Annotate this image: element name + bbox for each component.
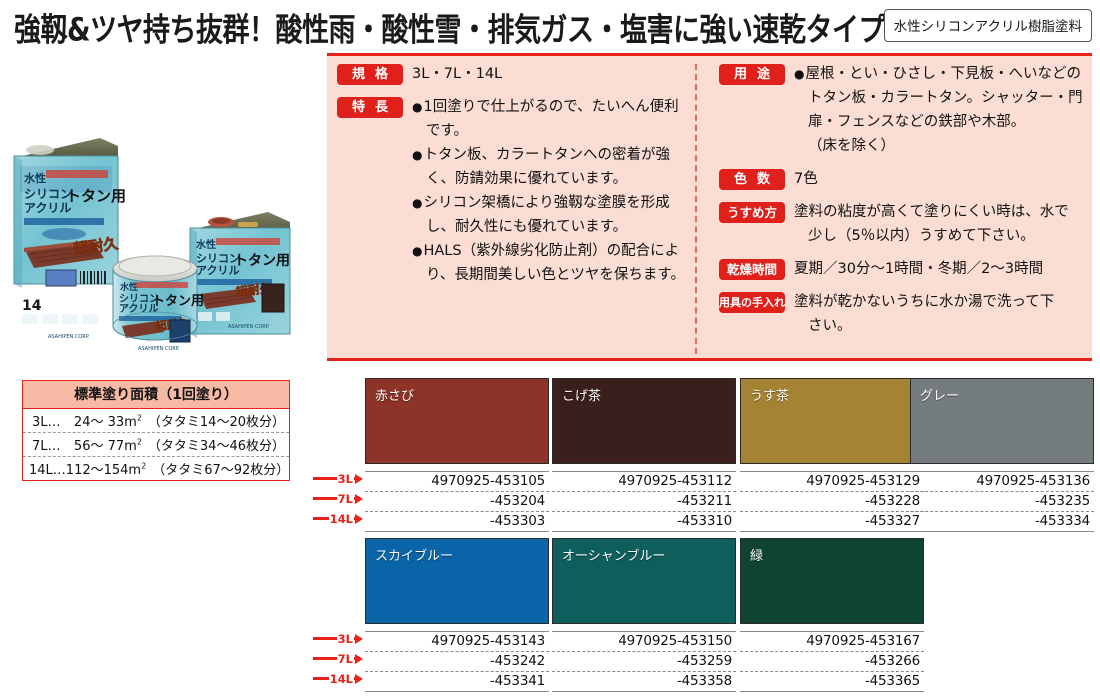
color-swatch-cell[interactable]: オーシャンブルー4970925-453150-453259-453358 bbox=[552, 538, 736, 692]
size-tag-group: 3L7L14L bbox=[313, 631, 363, 691]
swatch-row-1: 赤さび4970925-453105-453204-4533033L7L14Lこげ… bbox=[330, 378, 1090, 538]
color-swatch-block: 緑 bbox=[740, 538, 924, 624]
svg-text:シリコン: シリコン bbox=[24, 187, 72, 201]
spec-text-line: 塗料が乾かないうちに水か湯で洗って下 bbox=[794, 290, 1087, 314]
color-swatch-block: グレー bbox=[910, 378, 1094, 464]
product-code-list: 4970925-453105-453204-453303 bbox=[365, 471, 549, 532]
spec-text-line: さい。 bbox=[794, 314, 1087, 338]
size-tag: 14L bbox=[313, 511, 363, 526]
coverage-size: 7L… bbox=[29, 439, 61, 454]
spec-text-line: 1回塗りで仕上がるので、たいへん便利 bbox=[412, 95, 689, 119]
product-code: -453211 bbox=[552, 492, 736, 512]
coverage-area-table: 標準塗り面積（1回塗り） 3L…24〜 33m2（タタミ14〜20枚分）7L…5… bbox=[22, 380, 290, 481]
spec-text-line: トタン板、カラートタンへの密着が強 bbox=[412, 143, 689, 167]
product-code: -453259 bbox=[552, 652, 736, 672]
size-tag: 3L bbox=[313, 471, 363, 486]
svg-text:トタン用: トタン用 bbox=[152, 294, 204, 309]
spec-label: 特長 bbox=[337, 97, 403, 118]
svg-text:ASAHIPEN CORP.: ASAHIPEN CORP. bbox=[138, 346, 180, 352]
spec-text-line: 扉・フェンスなどの鉄部や木部。 bbox=[794, 110, 1087, 134]
spec-label: 用具の手入れ bbox=[719, 292, 785, 313]
color-swatch-name: こげ茶 bbox=[562, 385, 601, 404]
svg-text:アクリル: アクリル bbox=[196, 264, 239, 277]
product-code: -453204 bbox=[365, 492, 549, 512]
svg-text:水性: 水性 bbox=[195, 238, 216, 251]
spec-row: 用途屋根・とい・ひさし・下見板・へいなどのトタン板・カラートタン。シャッター・門… bbox=[719, 62, 1087, 158]
color-swatch-block: スカイブルー bbox=[365, 538, 549, 624]
size-tag-group: 3L7L14L bbox=[313, 471, 363, 531]
color-swatch-block: こげ茶 bbox=[552, 378, 736, 464]
size-tag: 3L bbox=[313, 631, 363, 646]
spec-label: 規格 bbox=[337, 64, 403, 85]
color-swatch-cell[interactable]: うす茶4970925-453129-453228-453327 bbox=[740, 378, 924, 532]
product-code: 4970925-453167 bbox=[740, 632, 924, 652]
paint-can-7l: 水性 シリコン トタン用 アクリル 超耐久 ASAHIPEN CORP. bbox=[190, 212, 290, 338]
color-swatch-name: オーシャンブルー bbox=[562, 545, 665, 564]
size-tag-label: 7L bbox=[337, 493, 354, 505]
size-tag-arrow-icon bbox=[355, 654, 363, 664]
spec-text-line: 少し（5％以内）うすめて下さい。 bbox=[794, 224, 1087, 248]
product-type-badge: 水性シリコンアクリル樹脂塗料 bbox=[884, 9, 1092, 42]
page-header: 強靱&ツヤ持ち抜群！酸性雨・酸性雪・排気ガス・塩害に強い速乾タイプ 水性シリコン… bbox=[0, 0, 1100, 48]
coverage-area: 24〜 33m2 bbox=[61, 411, 148, 430]
spec-value: 夏期／30分〜1時間・冬期／2〜3時間 bbox=[794, 257, 1087, 281]
product-code: -453228 bbox=[740, 492, 924, 512]
spec-text-line: 屋根・とい・ひさし・下見板・へいなどの bbox=[794, 62, 1087, 86]
spec-value: 3L・7L・14L bbox=[412, 62, 689, 86]
spec-row: 特長1回塗りで仕上がるので、たいへん便利です。トタン板、カラートタンへの密着が強… bbox=[337, 95, 689, 287]
product-code-list: 4970925-453129-453228-453327 bbox=[740, 471, 924, 532]
coverage-table-body: 3L…24〜 33m2（タタミ14〜20枚分）7L…56〜 77m2（タタミ34… bbox=[23, 409, 289, 480]
coverage-row: 3L…24〜 33m2（タタミ14〜20枚分） bbox=[23, 409, 289, 433]
coverage-row: 14L…112〜154m2（タタミ67〜92枚分） bbox=[23, 457, 289, 480]
color-swatch-cell[interactable]: グレー4970925-453136-453235-453334 bbox=[910, 378, 1094, 532]
size-tag: 14L bbox=[313, 671, 363, 686]
color-swatch-name: スカイブルー bbox=[375, 545, 453, 564]
spec-text-line: 夏期／30分〜1時間・冬期／2〜3時間 bbox=[794, 257, 1087, 281]
product-code: 4970925-453112 bbox=[552, 472, 736, 492]
spec-text-line: く、防錆効果に優れています。 bbox=[412, 167, 689, 191]
spec-column-right: 用途屋根・とい・ひさし・下見板・へいなどのトタン板・カラートタン。シャッター・門… bbox=[719, 62, 1087, 347]
size-tag-arrow-icon bbox=[355, 634, 363, 644]
color-swatch-block: オーシャンブルー bbox=[552, 538, 736, 624]
spec-column-left: 規格3L・7L・14L特長1回塗りで仕上がるので、たいへん便利です。トタン板、カ… bbox=[337, 62, 689, 296]
spec-label: 用途 bbox=[719, 64, 785, 85]
svg-text:トタン用: トタン用 bbox=[234, 253, 290, 269]
product-code: -453327 bbox=[740, 512, 924, 532]
spec-row: 用具の手入れ塗料が乾かないうちに水か湯で洗って下さい。 bbox=[719, 290, 1087, 338]
swatch-row-2: スカイブルー4970925-453143-453242-4533413L7L14… bbox=[330, 538, 1090, 698]
product-code: -453266 bbox=[740, 652, 924, 672]
product-code: 4970925-453105 bbox=[365, 472, 549, 492]
product-code-list: 4970925-453136-453235-453334 bbox=[910, 471, 1094, 532]
size-tag-arrow-icon bbox=[355, 674, 363, 684]
size-tag-label: 3L bbox=[337, 473, 354, 485]
spec-text-line: 塗料の粘度が高くて塗りにくい時は、水で bbox=[794, 200, 1087, 224]
color-swatch-name: うす茶 bbox=[750, 385, 789, 404]
size-tag: 7L bbox=[313, 491, 363, 506]
color-swatch-name: 緑 bbox=[750, 545, 763, 564]
page-title: 強靱&ツヤ持ち抜群！酸性雨・酸性雪・排気ガス・塩害に強い速乾タイプ bbox=[14, 4, 885, 50]
size-tag: 7L bbox=[313, 651, 363, 666]
size-tag-arrow-icon bbox=[355, 474, 363, 484]
product-code: -453242 bbox=[365, 652, 549, 672]
product-code: -453341 bbox=[365, 672, 549, 692]
color-swatch-name: グレー bbox=[920, 385, 959, 404]
coverage-row: 7L…56〜 77m2（タタミ34〜46枚分） bbox=[23, 433, 289, 457]
spec-text-line: 7色 bbox=[794, 167, 1087, 191]
product-code: 4970925-453143 bbox=[365, 632, 549, 652]
coverage-size: 14L… bbox=[29, 463, 66, 478]
spec-row: うすめ方塗料の粘度が高くて塗りにくい時は、水で少し（5％以内）うすめて下さい。 bbox=[719, 200, 1087, 248]
color-swatch-name: 赤さび bbox=[375, 385, 414, 404]
svg-text:ASAHIPEN CORP.: ASAHIPEN CORP. bbox=[228, 324, 270, 330]
spec-value: 屋根・とい・ひさし・下見板・へいなどのトタン板・カラートタン。シャッター・門扉・… bbox=[794, 62, 1087, 158]
coverage-tatami: （タタミ14〜20枚分） bbox=[148, 411, 285, 430]
spec-value: 1回塗りで仕上がるので、たいへん便利です。トタン板、カラートタンへの密着が強く、… bbox=[412, 95, 689, 287]
spec-text-line: HALS（紫外線劣化防止剤）の配合によ bbox=[412, 239, 689, 263]
product-code-list: 4970925-453112-453211-453310 bbox=[552, 471, 736, 532]
spec-row: 規格3L・7L・14L bbox=[337, 62, 689, 86]
svg-text:ASAHIPEN CORP.: ASAHIPEN CORP. bbox=[48, 334, 90, 340]
size-tag-label: 3L bbox=[337, 633, 354, 645]
size-tag-label: 7L bbox=[337, 653, 354, 665]
spec-label: うすめ方 bbox=[719, 202, 785, 223]
spec-text-line: 3L・7L・14L bbox=[412, 62, 689, 86]
svg-text:トタン用: トタン用 bbox=[66, 187, 126, 205]
svg-text:水性: 水性 bbox=[24, 171, 46, 185]
color-swatch-block: うす茶 bbox=[740, 378, 924, 464]
spec-text-line: です。 bbox=[412, 119, 689, 143]
spec-text-line: シリコン架橋により強靱な塗膜を形成 bbox=[412, 191, 689, 215]
color-swatch-grid: 赤さび4970925-453105-453204-4533033L7L14Lこげ… bbox=[330, 378, 1090, 698]
color-swatch-block: 赤さび bbox=[365, 378, 549, 464]
size-tag-arrow-icon bbox=[355, 494, 363, 504]
product-code: -453358 bbox=[552, 672, 736, 692]
svg-text:L: L bbox=[36, 303, 41, 312]
color-swatch-cell[interactable]: スカイブルー4970925-453143-453242-4533413L7L14… bbox=[365, 538, 549, 692]
coverage-tatami: （タタミ67〜92枚分） bbox=[152, 459, 289, 478]
spec-row: 乾燥時間夏期／30分〜1時間・冬期／2〜3時間 bbox=[719, 257, 1087, 281]
product-code: -453235 bbox=[910, 492, 1094, 512]
product-code: 4970925-453129 bbox=[740, 472, 924, 492]
product-code: -453310 bbox=[552, 512, 736, 532]
spec-label: 色数 bbox=[719, 169, 785, 190]
size-tag-label: 14L bbox=[329, 513, 354, 525]
coverage-tatami: （タタミ34〜46枚分） bbox=[148, 435, 285, 454]
color-swatch-cell[interactable]: こげ茶4970925-453112-453211-453310 bbox=[552, 378, 736, 532]
coverage-table-title: 標準塗り面積（1回塗り） bbox=[23, 381, 289, 409]
color-swatch-cell[interactable]: 赤さび4970925-453105-453204-4533033L7L14L bbox=[365, 378, 549, 532]
specification-panel: 規格3L・7L・14L特長1回塗りで仕上がるので、たいへん便利です。トタン板、カ… bbox=[327, 56, 1092, 361]
product-photo: 水性 シリコン トタン用 アクリル 超耐久 bbox=[0, 62, 324, 362]
spec-value: 塗料の粘度が高くて塗りにくい時は、水で少し（5％以内）うすめて下さい。 bbox=[794, 200, 1087, 248]
product-code: -453365 bbox=[740, 672, 924, 692]
product-code: 4970925-453150 bbox=[552, 632, 736, 652]
coverage-area: 112〜154m2 bbox=[66, 459, 152, 478]
coverage-area: 56〜 77m2 bbox=[61, 435, 148, 454]
size-tag-arrow-icon bbox=[355, 514, 363, 524]
spec-column-divider bbox=[695, 64, 697, 354]
spec-row: 色数7色 bbox=[719, 167, 1087, 191]
coverage-size: 3L… bbox=[29, 415, 61, 430]
product-code: -453334 bbox=[910, 512, 1094, 532]
color-swatch-cell[interactable]: 緑4970925-453167-453266-453365 bbox=[740, 538, 924, 692]
svg-text:水性: 水性 bbox=[120, 281, 138, 293]
spec-text-line: り、長期間美しい色とツヤを保ちます。 bbox=[412, 263, 689, 287]
spec-text-line: し、耐久性にも優れています。 bbox=[412, 215, 689, 239]
spec-value: 塗料が乾かないうちに水か湯で洗って下さい。 bbox=[794, 290, 1087, 338]
svg-text:アクリル: アクリル bbox=[24, 201, 71, 215]
product-code: 4970925-453136 bbox=[910, 472, 1094, 492]
spec-text-line: （床を除く） bbox=[794, 134, 1087, 158]
spec-value: 7色 bbox=[794, 167, 1087, 191]
spec-label: 乾燥時間 bbox=[719, 259, 785, 280]
spec-text-line: トタン板・カラートタン。シャッター・門 bbox=[794, 86, 1087, 110]
paint-can-14l: 水性 シリコン トタン用 アクリル 超耐久 bbox=[14, 138, 126, 340]
paint-can-round: 水性 シリコン トタン用 アクリル 超耐久 ASAHIPEN CORP. bbox=[113, 256, 204, 352]
product-code: -453303 bbox=[365, 512, 549, 532]
